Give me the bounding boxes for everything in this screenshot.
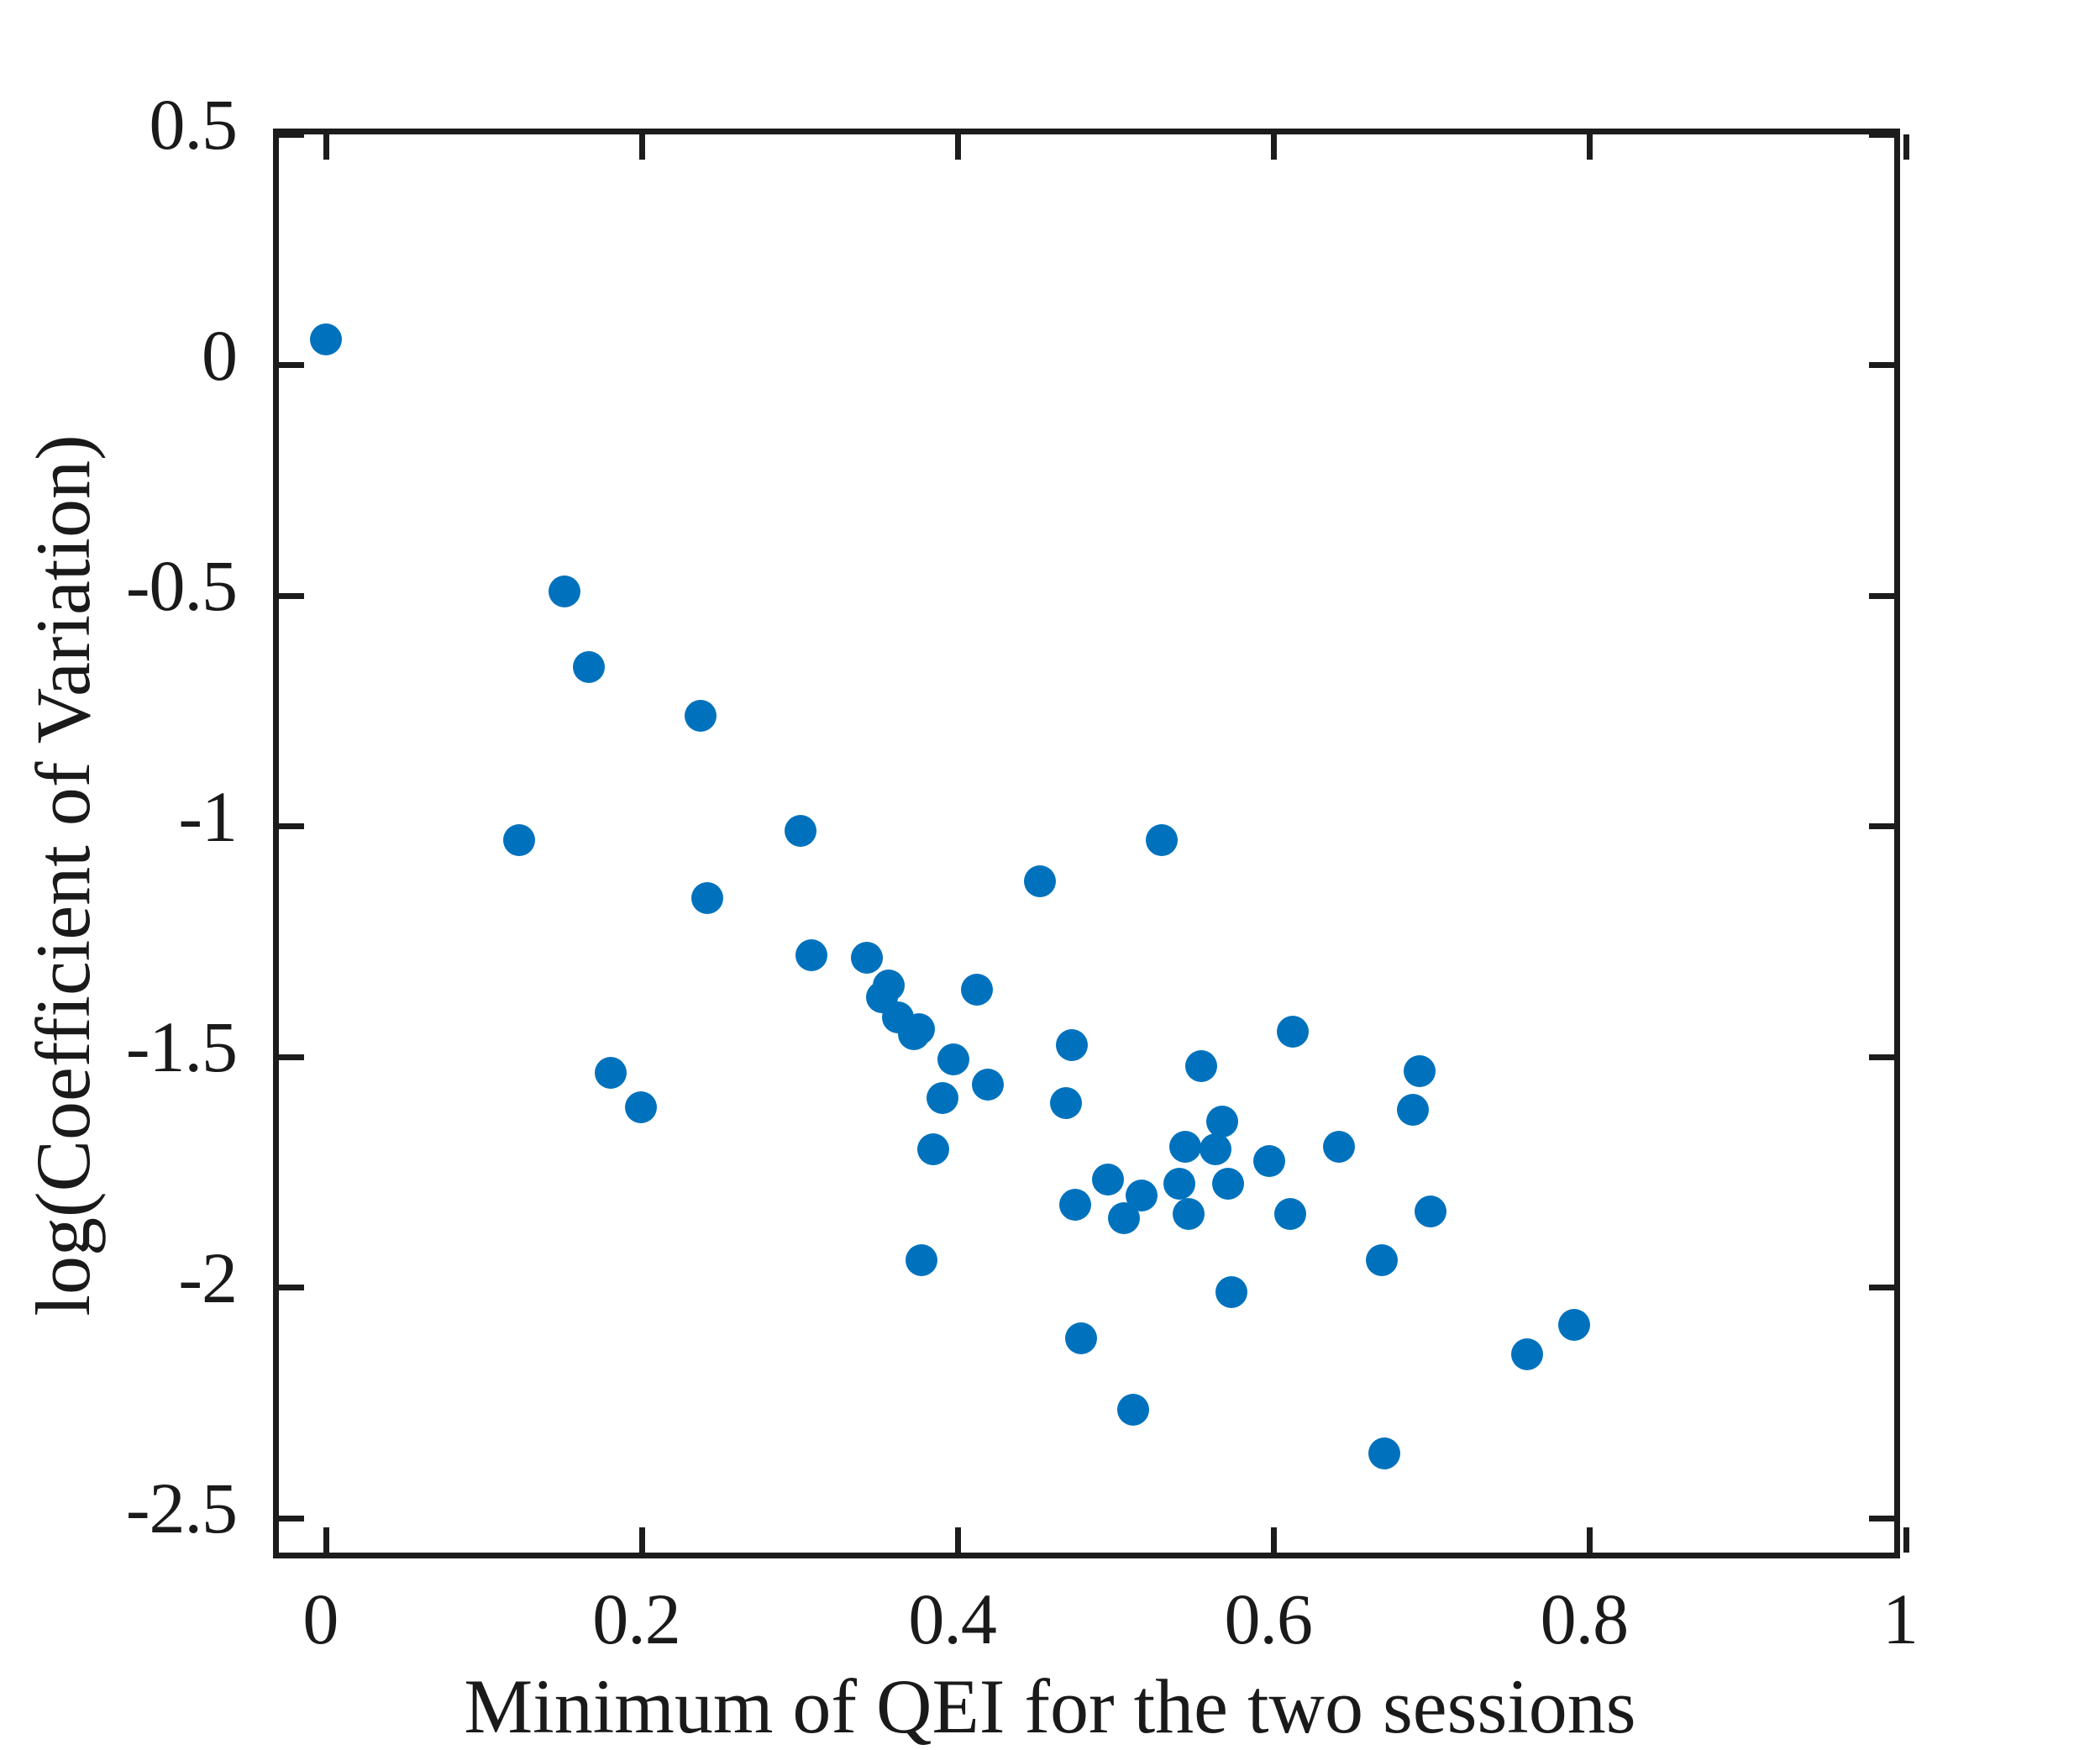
y-axis-tick-right-4 xyxy=(1869,1054,1894,1060)
plot-area xyxy=(273,129,1900,1558)
y-tick-label-3: -1 xyxy=(178,780,237,853)
y-tick-label-0: 0.5 xyxy=(150,88,238,160)
data-point xyxy=(851,942,883,974)
data-point xyxy=(1024,865,1056,897)
x-axis-tick-top-5 xyxy=(1903,134,1909,160)
x-axis-tick-0 xyxy=(323,1527,329,1553)
data-point xyxy=(1163,1168,1195,1200)
data-point xyxy=(1277,1016,1309,1048)
data-point xyxy=(595,1057,627,1089)
x-axis-tick-4 xyxy=(1587,1527,1593,1553)
data-point xyxy=(1511,1338,1543,1370)
data-point xyxy=(1253,1145,1285,1177)
y-tick-label-4: -1.5 xyxy=(126,1011,237,1083)
data-point xyxy=(1065,1322,1097,1354)
y-tick-label-1: 0 xyxy=(202,319,237,392)
scatter-plot-figure: log(Coefficient of Variation) 0.5 0 -0.5… xyxy=(0,0,2100,1750)
y-axis-tick-right-3 xyxy=(1869,823,1894,829)
y-axis-title: log(Coefficient of Variation) xyxy=(24,434,102,1316)
data-point xyxy=(937,1043,969,1075)
data-point xyxy=(503,824,535,856)
data-point xyxy=(1146,824,1178,856)
data-point xyxy=(1274,1198,1306,1230)
data-point xyxy=(1200,1133,1231,1165)
data-point xyxy=(685,700,717,732)
data-point xyxy=(1059,1189,1091,1221)
data-point xyxy=(1415,1196,1446,1227)
data-point xyxy=(1169,1131,1201,1163)
x-axis-tick-3 xyxy=(1271,1527,1277,1553)
data-point xyxy=(873,970,905,1001)
y-axis-tick-1 xyxy=(279,362,304,368)
data-point xyxy=(1366,1244,1398,1276)
data-point xyxy=(1397,1094,1429,1126)
x-tick-label-2: 0.4 xyxy=(908,1583,996,1655)
data-point xyxy=(1368,1437,1400,1469)
y-axis-tick-right-1 xyxy=(1869,362,1894,368)
data-point xyxy=(1212,1168,1244,1200)
data-point xyxy=(573,651,605,683)
y-axis-tick-right-2 xyxy=(1869,593,1894,599)
y-axis-tick-right-5 xyxy=(1869,1285,1894,1290)
y-axis-tick-6 xyxy=(279,1516,304,1521)
data-point xyxy=(1558,1309,1590,1341)
x-tick-label-1: 0.2 xyxy=(592,1583,680,1655)
data-point xyxy=(972,1069,1004,1101)
y-axis-tick-4 xyxy=(279,1054,304,1060)
x-axis-tick-top-0 xyxy=(323,134,329,160)
data-point xyxy=(785,815,816,847)
data-point xyxy=(927,1082,958,1114)
y-axis-tick-2 xyxy=(279,593,304,599)
y-axis-title-container: log(Coefficient of Variation) xyxy=(0,0,126,1750)
x-axis-tick-top-2 xyxy=(955,134,961,160)
data-point-layer xyxy=(279,134,1894,1553)
x-tick-label-3: 0.6 xyxy=(1225,1583,1313,1655)
data-point xyxy=(1215,1276,1247,1308)
data-point xyxy=(1206,1106,1238,1138)
x-tick-label-5: 1 xyxy=(1882,1583,1918,1655)
data-point xyxy=(1185,1050,1217,1082)
y-axis-tick-0 xyxy=(279,132,304,138)
data-point xyxy=(1173,1198,1205,1230)
x-axis-tick-1 xyxy=(639,1527,645,1553)
x-axis-tick-2 xyxy=(955,1527,961,1553)
data-point xyxy=(961,974,993,1006)
data-point xyxy=(691,882,723,914)
y-axis-tick-3 xyxy=(279,823,304,829)
x-axis-title: Minimum of QEI for the two sessions xyxy=(0,1668,2100,1745)
y-tick-label-2: -0.5 xyxy=(126,549,237,622)
data-point xyxy=(1092,1164,1124,1196)
y-axis-tick-right-6 xyxy=(1869,1516,1894,1521)
y-axis-tick-right-0 xyxy=(1869,132,1894,138)
data-point xyxy=(1050,1087,1082,1119)
data-point xyxy=(1056,1029,1088,1061)
x-tick-label-0: 0 xyxy=(302,1583,338,1655)
data-point xyxy=(917,1133,949,1165)
data-point xyxy=(310,323,342,355)
x-axis-tick-top-3 xyxy=(1271,134,1277,160)
y-axis-tick-5 xyxy=(279,1285,304,1290)
x-axis-tick-top-1 xyxy=(639,134,645,160)
data-point xyxy=(549,575,580,607)
y-tick-label-6: -2.5 xyxy=(126,1472,237,1544)
data-point xyxy=(1117,1394,1149,1426)
data-point xyxy=(903,1013,935,1045)
data-point xyxy=(1126,1180,1158,1211)
x-axis-tick-top-4 xyxy=(1587,134,1593,160)
data-point xyxy=(625,1091,657,1123)
x-tick-label-4: 0.8 xyxy=(1541,1583,1629,1655)
x-axis-tick-5 xyxy=(1903,1527,1909,1553)
data-point xyxy=(906,1244,937,1276)
data-point xyxy=(795,939,827,971)
y-tick-label-5: -2 xyxy=(178,1242,237,1314)
data-point xyxy=(1404,1055,1436,1087)
data-point xyxy=(1323,1131,1355,1163)
